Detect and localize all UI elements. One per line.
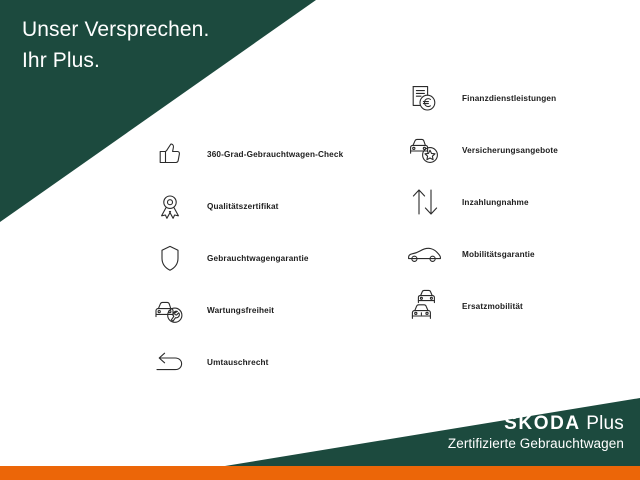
feature-item: Umtauschrecht <box>146 336 343 388</box>
feature-label: Wartungsfreiheit <box>207 306 274 315</box>
feature-item: Versicherungsangebote <box>401 124 558 176</box>
return-arrow-icon <box>146 340 194 384</box>
arrows-up-down-icon <box>401 180 449 224</box>
document-euro-icon <box>401 76 449 120</box>
feature-label: Qualitätszertifikat <box>207 202 279 211</box>
promo-banner: Unser Versprechen. Ihr Plus. 360-Grad-Ge… <box>0 0 640 480</box>
feature-item: Inzahlungnahme <box>401 176 558 228</box>
feature-item: Qualitätszertifikat <box>146 180 343 232</box>
feature-column-left: 360-Grad-Gebrauchtwagen-Check Qualitätsz… <box>146 128 343 388</box>
headline-line-2: Ihr Plus. <box>22 45 209 76</box>
brand-tagline: Zertifizierte Gebrauchtwagen <box>448 435 624 452</box>
feature-label: Gebrauchtwagengarantie <box>207 254 309 263</box>
feature-item: Wartungsfreiheit <box>146 284 343 336</box>
feature-label: Umtauschrecht <box>207 358 269 367</box>
car-wrench-icon <box>146 288 194 332</box>
feature-item: Mobilitätsgarantie <box>401 228 558 280</box>
two-cars-icon <box>401 284 449 328</box>
brand-logo: ŠKODA Plus Zertifizierte Gebrauchtwagen <box>448 413 624 452</box>
feature-item: Finanzdienstleistungen <box>401 72 558 124</box>
feature-item: Ersatzmobilität <box>401 280 558 332</box>
brand-suffix: Plus <box>581 413 624 434</box>
feature-label: Versicherungsangebote <box>462 146 558 155</box>
feature-label: 360-Grad-Gebrauchtwagen-Check <box>207 150 343 159</box>
feature-column-right: Finanzdienstleistungen Versicherungsange… <box>401 72 558 332</box>
orange-bottom-bar <box>0 466 640 480</box>
award-rosette-icon <box>146 184 194 228</box>
feature-label: Inzahlungnahme <box>462 198 529 207</box>
feature-label: Finanzdienstleistungen <box>462 94 556 103</box>
brand-mark: ŠKODA <box>504 413 581 434</box>
car-side-icon <box>401 232 449 276</box>
feature-item: 360-Grad-Gebrauchtwagen-Check <box>146 128 343 180</box>
thumbs-up-icon <box>146 132 194 176</box>
feature-label: Ersatzmobilität <box>462 302 523 311</box>
feature-item: Gebrauchtwagengarantie <box>146 232 343 284</box>
feature-label: Mobilitätsgarantie <box>462 250 535 259</box>
headline: Unser Versprechen. Ihr Plus. <box>22 14 209 76</box>
headline-line-1: Unser Versprechen. <box>22 18 209 41</box>
shield-icon <box>146 236 194 280</box>
car-star-icon <box>401 128 449 172</box>
brand-logo-primary: ŠKODA Plus <box>448 413 624 435</box>
